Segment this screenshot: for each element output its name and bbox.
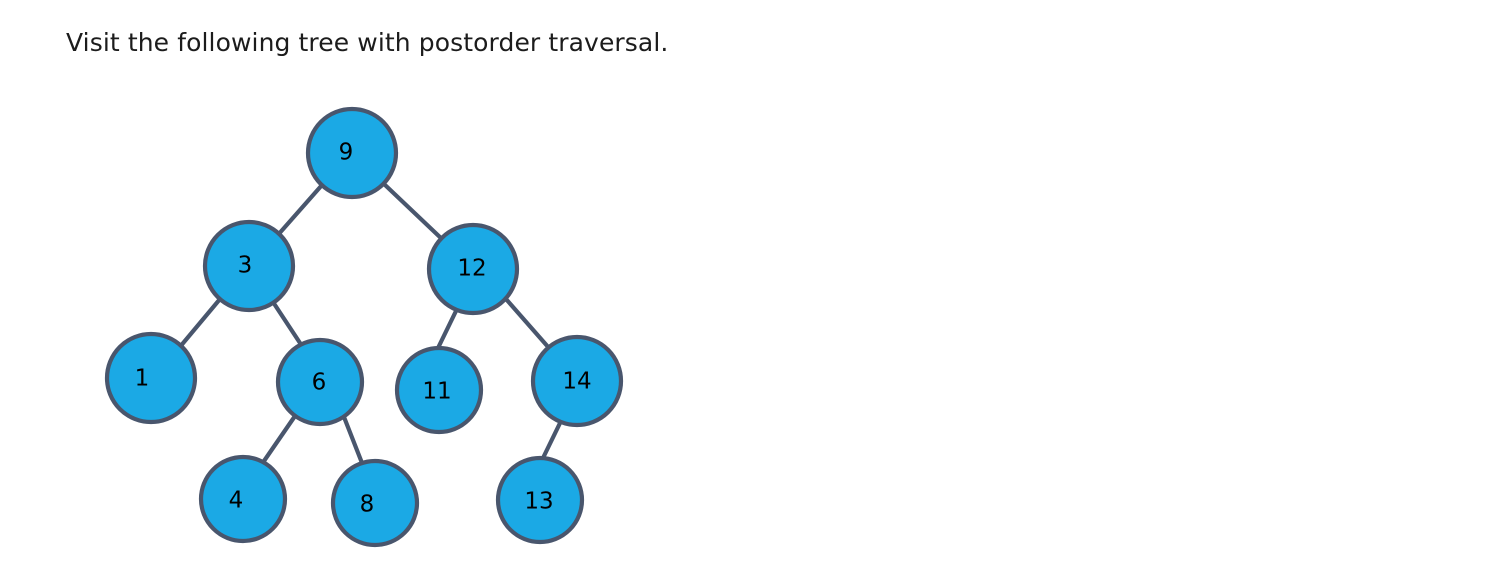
- tree-node-label-13: 13: [524, 489, 553, 515]
- tree-edge-n12-n11: [438, 311, 456, 348]
- tree-node-label-3: 3: [238, 253, 253, 279]
- tree-node-label-1: 1: [135, 366, 150, 392]
- tree-node-6: 6: [278, 340, 362, 424]
- tree-node-label-8: 8: [360, 492, 375, 518]
- tree-node-11: 11: [397, 348, 481, 432]
- tree-node-circle-8: [333, 461, 417, 545]
- tree-node-9: 9: [308, 109, 396, 197]
- tree-node-layer: 93121611144813: [107, 109, 621, 545]
- tree-node-4: 4: [201, 457, 285, 541]
- tree-node-1: 1: [107, 334, 195, 422]
- binary-tree-diagram: 93121611144813: [0, 0, 1508, 577]
- tree-node-3: 3: [205, 222, 293, 310]
- tree-node-label-9: 9: [339, 140, 354, 166]
- tree-edge-n12-n14: [506, 299, 549, 348]
- tree-node-label-12: 12: [457, 256, 486, 282]
- tree-node-circle-1: [107, 334, 195, 422]
- tree-edge-n6-n4: [264, 416, 295, 461]
- tree-node-14: 14: [533, 337, 621, 425]
- tree-edge-n14-n13: [543, 421, 561, 458]
- tree-node-8: 8: [333, 461, 417, 545]
- tree-edge-n3-n6: [273, 302, 300, 343]
- tree-node-label-4: 4: [229, 488, 244, 514]
- tree-edge-n9-n12: [384, 184, 443, 240]
- tree-node-13: 13: [498, 458, 582, 542]
- tree-edge-n3-n1: [179, 299, 220, 348]
- tree-node-label-11: 11: [422, 379, 451, 405]
- tree-node-label-14: 14: [562, 369, 591, 395]
- tree-node-label-6: 6: [312, 370, 327, 396]
- tree-node-12: 12: [429, 225, 517, 313]
- tree-edge-n9-n3: [277, 185, 322, 236]
- tree-edge-n6-n8: [344, 417, 362, 463]
- question-page: Visit the following tree with postorder …: [0, 0, 1508, 577]
